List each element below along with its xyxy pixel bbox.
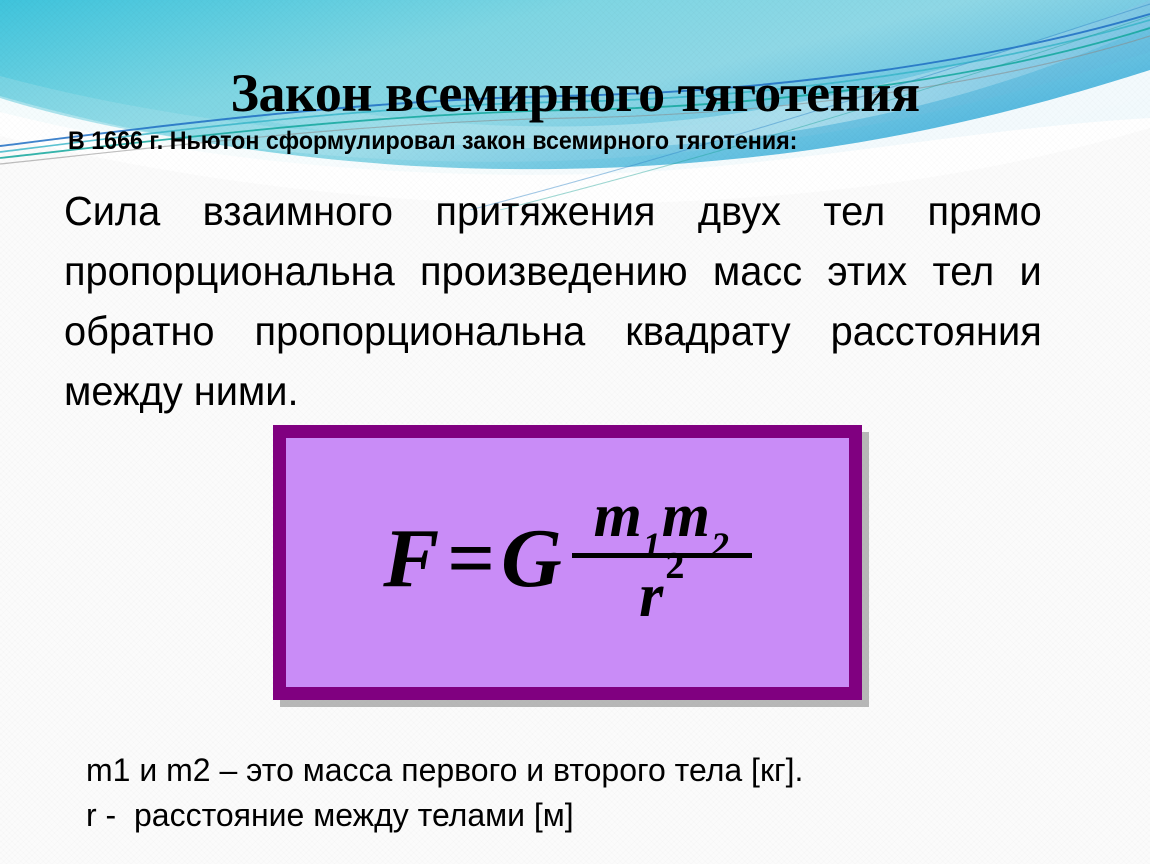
formula-m2-subscript: 2 [710, 525, 730, 565]
formula-r-base: r [639, 562, 663, 630]
formula-m1-base: m [594, 482, 642, 550]
slide: Закон всемирного тяготения В 1666 г. Нью… [0, 0, 1150, 864]
legend-line-distance: r - расстояние между телами [м] [86, 793, 803, 838]
formula-m2-base: m [662, 482, 710, 550]
slide-subtitle: В 1666 г. Ньютон сформулировал закон все… [68, 128, 797, 156]
formula-numerator: m1m2 [584, 484, 740, 553]
law-statement-paragraph: Сила взаимного притяжения двух тел прямо… [64, 182, 1042, 421]
legend-line-masses: m1 и m2 – это масса первого и второго те… [86, 748, 803, 793]
formula-m1-subscript: 1 [642, 525, 662, 565]
slide-title: Закон всемирного тяготения [0, 66, 1150, 120]
formula-gravitational-constant-G: G [501, 517, 572, 601]
formula-r-exponent: 2 [663, 545, 684, 587]
formula-lhs-F: F [383, 517, 441, 601]
gravitation-formula: F = G m1m2 r2 [383, 486, 752, 631]
variable-legend: m1 и m2 – это масса первого и второго те… [86, 748, 803, 839]
formula-denominator: r2 [629, 558, 694, 629]
formula-box: F = G m1m2 r2 [273, 425, 862, 700]
formula-fraction: m1m2 r2 [572, 484, 752, 629]
formula-equals-sign: = [441, 517, 501, 601]
